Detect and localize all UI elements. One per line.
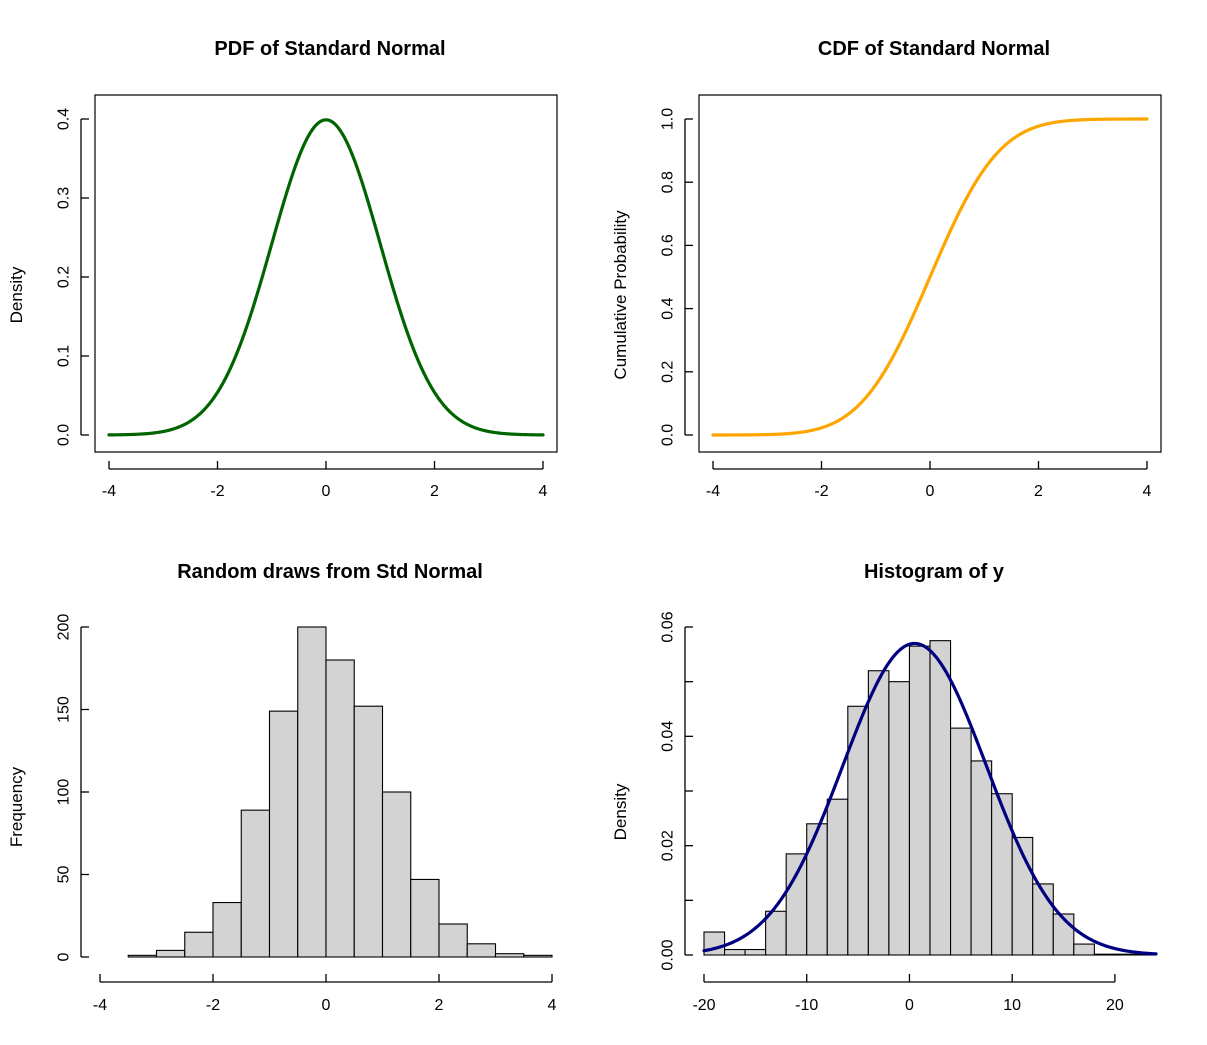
- pdf-plot-box: [95, 95, 557, 452]
- histogram-bar: [930, 641, 951, 955]
- y-tick-label: 0.1: [56, 345, 73, 367]
- pdf-y-tick-group: 0.00.10.20.30.4: [56, 108, 90, 446]
- figure-panel-grid: PDF of Standard Normal Density 0.00.10.2…: [0, 0, 1207, 1045]
- histogram-bar: [467, 944, 495, 957]
- pdf-chart-svg: PDF of Standard Normal Density 0.00.10.2…: [0, 0, 604, 522]
- histogram-bar: [786, 854, 807, 955]
- histogram-bar: [524, 955, 552, 957]
- cdf-x-tick-group: -4-2024: [706, 461, 1152, 500]
- histogram-bar: [270, 711, 298, 957]
- y-tick-label: 200: [56, 614, 73, 641]
- cdf-cumulative-curve: [713, 119, 1147, 435]
- histogram-bar: [909, 646, 930, 955]
- y-tick-label: 0.0: [660, 424, 677, 446]
- x-tick-label: 20: [1106, 997, 1124, 1014]
- x-tick-label: -2: [210, 483, 224, 500]
- x-tick-label: 0: [322, 997, 331, 1014]
- pdf-ylabel: Density: [7, 266, 26, 323]
- histogram-bar: [326, 660, 354, 957]
- random-draws-ylabel: Frequency: [7, 766, 26, 847]
- x-tick-label: 10: [1003, 997, 1021, 1014]
- random-draws-chart-svg: Random draws from Std Normal Frequency 0…: [0, 522, 604, 1045]
- histogram-bar: [868, 671, 889, 955]
- y-tick-label: 50: [56, 866, 73, 884]
- x-tick-label: 4: [1143, 483, 1152, 500]
- histogram-bar: [1094, 954, 1115, 955]
- cdf-ylabel: Cumulative Probability: [611, 210, 630, 380]
- histogram-bar: [157, 950, 185, 957]
- y-tick-label: 0.4: [56, 108, 73, 130]
- histogram-of-y-chart-svg: Histogram of y Density 0.000.020.040.06 …: [604, 522, 1207, 1045]
- histogram-bar: [354, 706, 382, 957]
- y-tick-label: 0.6: [660, 234, 677, 256]
- random-draws-y-tick-group: 050100150200: [56, 614, 90, 962]
- pdf-density-curve: [109, 120, 543, 435]
- y-tick-label: 0.02: [660, 830, 677, 861]
- x-tick-label: 4: [539, 483, 548, 500]
- y-tick-label: 0.2: [660, 361, 677, 383]
- x-tick-label: 0: [926, 483, 935, 500]
- histogram-bar: [1074, 944, 1095, 955]
- random-draws-title: Random draws from Std Normal: [177, 561, 483, 583]
- panel-random-draws: Random draws from Std Normal Frequency 0…: [0, 522, 604, 1045]
- histogram-bar: [766, 911, 787, 955]
- y-tick-label: 1.0: [660, 108, 677, 130]
- random-draws-bar-group: [128, 627, 552, 957]
- x-tick-label: -4: [93, 997, 107, 1014]
- y-tick-label: 0.3: [56, 187, 73, 209]
- x-tick-label: 4: [548, 997, 557, 1014]
- y-tick-label: 0.2: [56, 266, 73, 288]
- x-tick-label: 0: [905, 997, 914, 1014]
- x-tick-label: -2: [206, 997, 220, 1014]
- pdf-title: PDF of Standard Normal: [214, 38, 445, 60]
- y-tick-label: 0.8: [660, 171, 677, 193]
- cdf-chart-svg: CDF of Standard Normal Cumulative Probab…: [604, 0, 1207, 522]
- cdf-y-tick-group: 0.00.20.40.60.81.0: [660, 108, 694, 446]
- pdf-x-tick-group: -4-2024: [102, 461, 548, 500]
- y-tick-label: 0.0: [56, 424, 73, 446]
- histogram-bar: [971, 761, 992, 955]
- histogram-bar: [827, 799, 848, 955]
- histogram-bar: [992, 794, 1013, 955]
- y-tick-label: 0.06: [660, 611, 677, 642]
- x-tick-label: -10: [795, 997, 818, 1014]
- x-tick-label: -4: [706, 483, 720, 500]
- panel-histogram-of-y: Histogram of y Density 0.000.020.040.06 …: [604, 522, 1207, 1045]
- histogram-bar: [298, 627, 326, 957]
- x-tick-label: 2: [1034, 483, 1043, 500]
- y-tick-label: 100: [56, 779, 73, 806]
- histogram-bar: [383, 792, 411, 957]
- histogram-bar: [1115, 954, 1136, 955]
- histogram-bar: [745, 950, 766, 955]
- histogram-of-y-ylabel: Density: [611, 783, 630, 840]
- x-tick-label: 0: [322, 483, 331, 500]
- y-tick-label: 0: [56, 952, 73, 961]
- histogram-bar: [496, 954, 524, 957]
- histogram-of-y-bar-group: [704, 641, 1156, 955]
- histogram-bar: [213, 903, 241, 957]
- histogram-bar: [439, 924, 467, 957]
- panel-pdf: PDF of Standard Normal Density 0.00.10.2…: [0, 0, 604, 522]
- histogram-of-y-title: Histogram of y: [864, 561, 1005, 583]
- histogram-bar: [411, 879, 439, 957]
- histogram-bar: [889, 682, 910, 955]
- histogram-of-y-x-tick-group: -20-1001020: [692, 974, 1123, 1014]
- histogram-of-y-y-tick-group: 0.000.020.040.06: [660, 611, 694, 970]
- cdf-title: CDF of Standard Normal: [818, 38, 1050, 60]
- histogram-bar: [185, 932, 213, 957]
- panel-cdf: CDF of Standard Normal Cumulative Probab…: [604, 0, 1207, 522]
- x-tick-label: 2: [430, 483, 439, 500]
- y-tick-label: 150: [56, 696, 73, 723]
- x-tick-label: 2: [435, 997, 444, 1014]
- y-tick-label: 0.4: [660, 297, 677, 319]
- histogram-bar: [951, 728, 972, 955]
- x-tick-label: -4: [102, 483, 116, 500]
- histogram-bar: [241, 810, 269, 957]
- x-tick-label: -20: [692, 997, 715, 1014]
- histogram-bar: [725, 950, 746, 955]
- x-tick-label: -2: [814, 483, 828, 500]
- y-tick-label: 0.00: [660, 939, 677, 970]
- y-tick-label: 0.04: [660, 721, 677, 752]
- histogram-bar: [128, 955, 156, 957]
- random-draws-x-tick-group: -4-2024: [93, 974, 557, 1014]
